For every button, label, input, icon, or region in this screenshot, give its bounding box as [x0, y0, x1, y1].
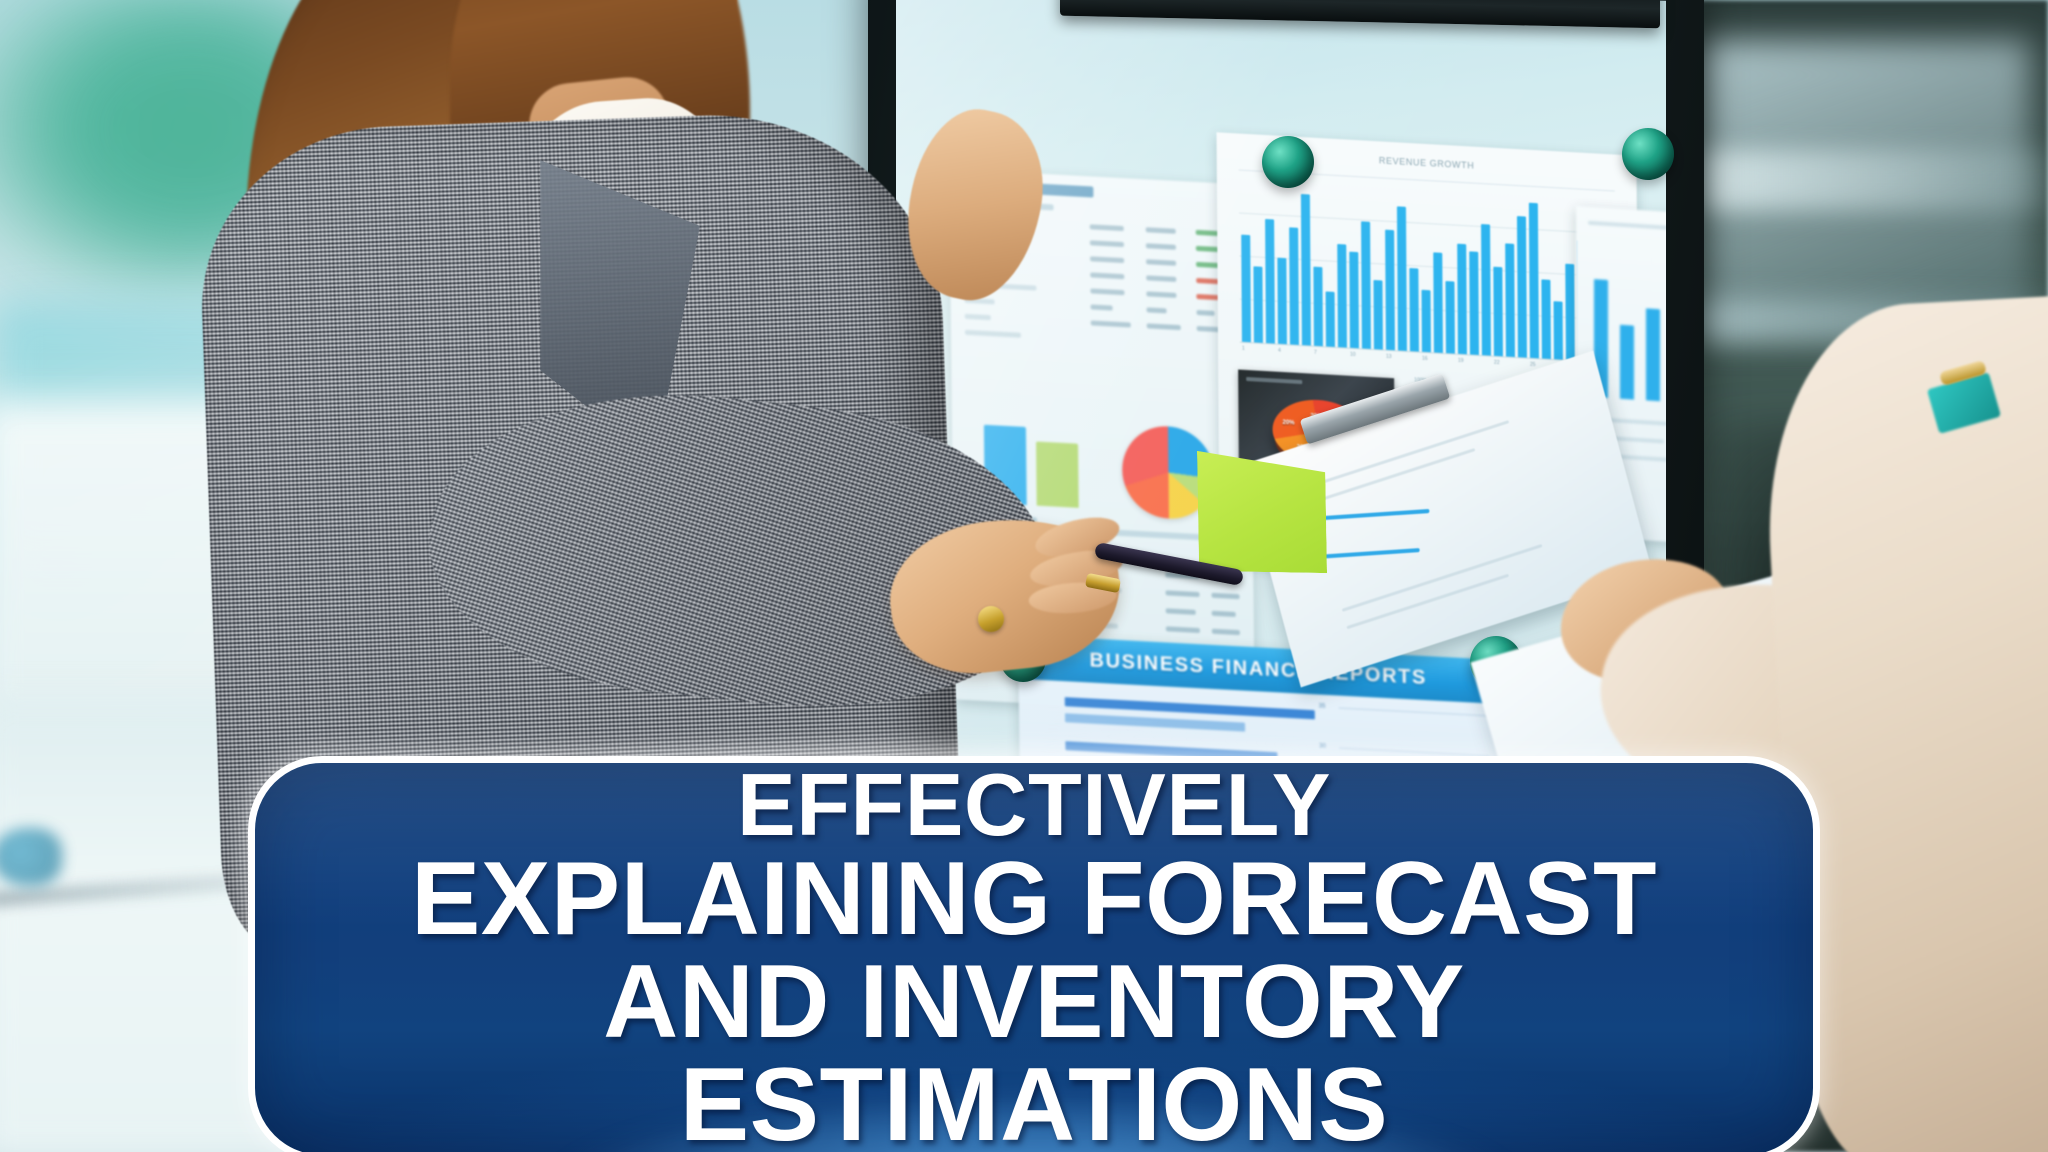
background-desk-object [0, 828, 62, 886]
mini-bar-actual [1036, 442, 1079, 508]
background-right-band-top [1705, 150, 2045, 210]
clipboard-arrow-2 [1321, 548, 1420, 559]
title-banner: EFFECTIVELY EXPLAINING FORECAST AND INVE… [248, 756, 1820, 1152]
banner-line-2: EXPLAINING FORECAST [255, 848, 1813, 951]
banner-line-1: EFFECTIVELY [255, 761, 1813, 848]
magnet-pin-3 [1622, 128, 1674, 180]
poster-canvas: REVENUE GROWTH [0, 0, 2048, 1152]
magnet-pin-2 [1262, 136, 1314, 188]
pie-label-4: 20% [1282, 420, 1294, 427]
finance-ytick-0: 35 [1319, 703, 1326, 709]
revenue-bar-chart [1239, 170, 1616, 364]
banner-title-text: EFFECTIVELY EXPLAINING FORECAST AND INVE… [255, 761, 1813, 1152]
banner-line-3: AND INVENTORY ESTIMATIONS [255, 951, 1813, 1152]
presenter-ring [978, 606, 1004, 632]
pie-chart-title [1246, 377, 1302, 384]
finance-ytick-1: 30 [1319, 744, 1326, 750]
